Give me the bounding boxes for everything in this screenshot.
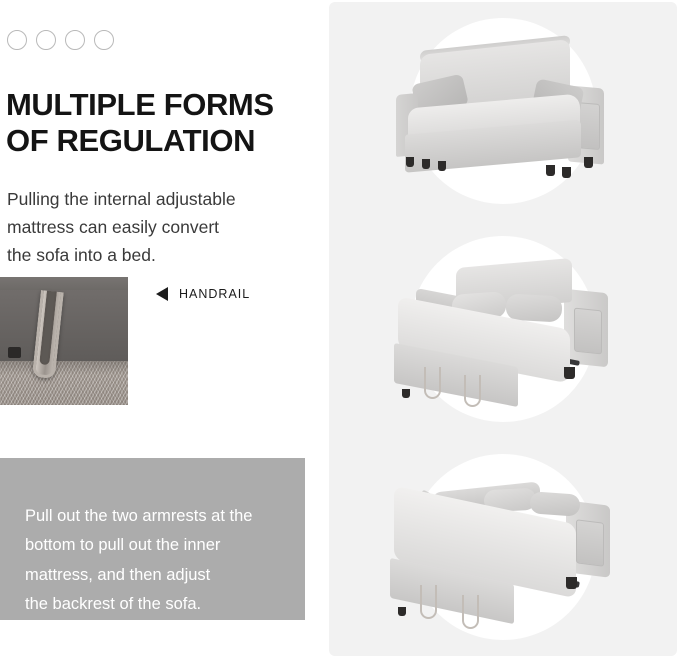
product-image-panel [329,2,677,656]
sofa-right-arm-panel [574,308,602,355]
sofa-throw-pillow-right [529,491,580,516]
handrail-strap-loop [420,585,437,619]
sofa-leg [564,367,575,379]
handrail-label: HANDRAIL [179,287,250,301]
dot-1-icon [7,30,27,50]
sofa-illustration-bed-mode [378,467,628,627]
dot-4-icon [94,30,114,50]
sofa-leg [398,607,406,616]
sofa-right-arm-panel [576,519,604,566]
handrail-callout: HANDRAIL [156,287,250,301]
photo-sofa-caster [8,347,21,358]
decorative-dots-row [7,30,114,50]
sofa-leg [562,167,571,178]
handrail-strap-loop [424,367,441,399]
sofa-leg [566,577,577,589]
handrail-strap-loop [464,375,481,407]
sofa-leg [438,161,446,171]
figure-bed-mode [329,438,677,656]
sofa-illustration-pullout-mode [378,249,628,409]
sofa-leg [546,165,555,176]
sofa-leg [406,157,414,167]
page-title: MULTIPLE FORMS OF REGULATION [6,87,306,159]
figure-sofa-mode [329,2,677,220]
photo-sofa-upper-edge [0,277,128,290]
instruction-callout-box: Pull out the two armrests at the bottom … [0,458,305,620]
intro-paragraph: Pulling the internal adjustable mattress… [7,185,297,269]
handrail-strap-loop [462,595,479,629]
dot-3-icon [65,30,85,50]
sofa-leg [584,157,593,168]
figure-pullout-mode [329,220,677,438]
sofa-leg [422,159,430,169]
left-content-column: MULTIPLE FORMS OF REGULATION Pulling the… [0,0,320,658]
instruction-callout-text: Pull out the two armrests at the bottom … [25,502,293,620]
sofa-leg [402,389,410,398]
sofa-illustration-sofa-mode [378,31,628,191]
handrail-detail-photo [0,277,128,405]
dot-2-icon [36,30,56,50]
left-triangle-arrow-icon [156,287,168,301]
